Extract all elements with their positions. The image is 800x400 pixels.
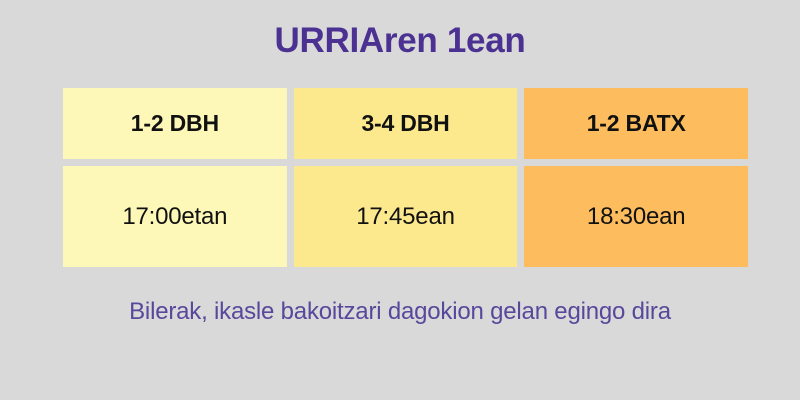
table-cell-time-3-4-dbh: 17:45ean	[294, 166, 518, 267]
schedule-table: 1-2 DBH 3-4 DBH 1-2 BATX 17:00etan 17:45…	[63, 88, 748, 267]
table-cell-time-1-2-dbh: 17:00etan	[63, 166, 287, 267]
footer-note: Bilerak, ikasle bakoitzari dagokion gela…	[0, 297, 800, 327]
table-header-row: 1-2 DBH 3-4 DBH 1-2 BATX	[63, 88, 748, 159]
poster-canvas: URRIAren 1ean 1-2 DBH 3-4 DBH 1-2 BATX 1…	[0, 0, 800, 400]
page-title: URRIAren 1ean	[0, 20, 800, 62]
table-row: 17:00etan 17:45ean 18:30ean	[63, 166, 748, 267]
table-cell-time-1-2-batx: 18:30ean	[524, 166, 748, 267]
table-header-cell-1-2-batx: 1-2 BATX	[524, 88, 748, 159]
table-header-cell-3-4-dbh: 3-4 DBH	[294, 88, 518, 159]
table-header-cell-1-2-dbh: 1-2 DBH	[63, 88, 287, 159]
